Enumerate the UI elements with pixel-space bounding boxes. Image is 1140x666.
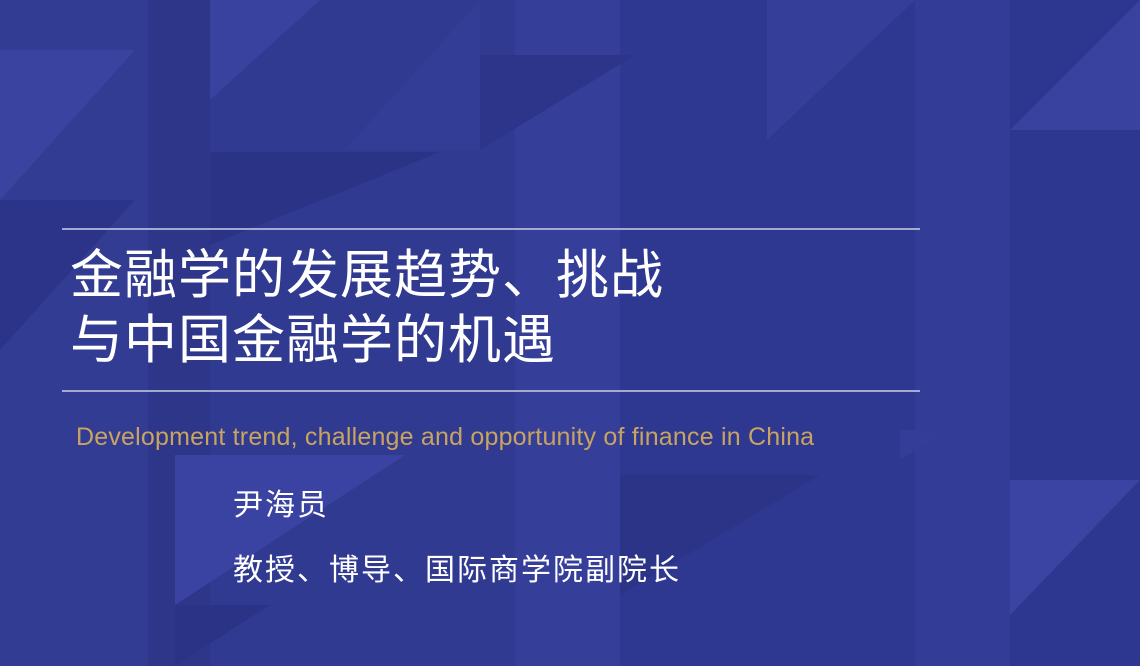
title-line-1: 金融学的发展趋势、挑战	[70, 243, 970, 308]
title-line-2: 与中国金融学的机遇	[70, 308, 970, 373]
title-divider-top	[62, 228, 920, 230]
slide-content: 金融学的发展趋势、挑战 与中国金融学的机遇 Development trend,…	[0, 0, 1140, 666]
page-title: 金融学的发展趋势、挑战 与中国金融学的机遇	[70, 243, 970, 373]
subtitle-english: Development trend, challenge and opportu…	[76, 420, 814, 454]
presenter-role: 教授、博导、国际商学院副院长	[233, 550, 681, 592]
title-divider-bottom	[62, 390, 920, 392]
presenter-name: 尹海员	[233, 485, 329, 527]
title-slide: 金融学的发展趋势、挑战 与中国金融学的机遇 Development trend,…	[0, 0, 1140, 666]
